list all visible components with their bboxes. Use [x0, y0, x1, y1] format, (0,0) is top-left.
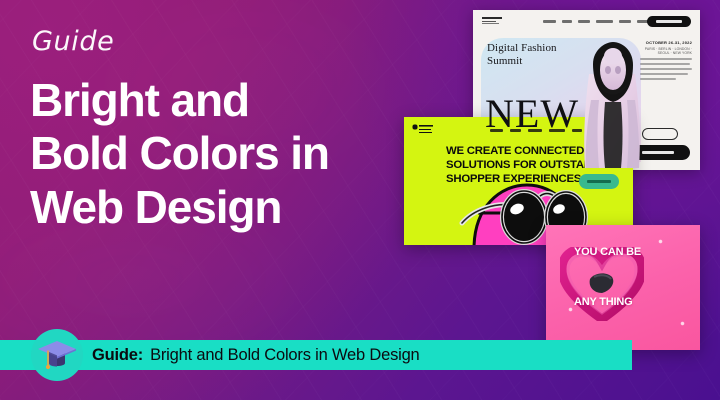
footer-label: Guide:	[92, 346, 143, 365]
mock1-nav-item[interactable]	[543, 20, 556, 23]
mock1-title-line1: Digital Fashion	[487, 42, 557, 54]
mock3-sparkle	[568, 307, 573, 312]
headline-line-3: Web Design	[30, 181, 410, 234]
mock1-nav-item[interactable]	[562, 20, 572, 23]
mock3-sparkle	[680, 321, 685, 326]
guide-banner: Digital Fashion Summit NEW	[0, 0, 720, 400]
mock3-sparkle	[658, 239, 663, 244]
mock1-register-button[interactable]	[647, 16, 691, 27]
page-title: Bright and Bold Colors in Web Design	[30, 74, 410, 234]
mock2-logo	[412, 124, 434, 134]
mock1-title: Digital Fashion Summit	[487, 42, 557, 68]
headline-line-2: Bold Colors in	[30, 127, 410, 180]
mock1-nav-item[interactable]	[578, 20, 590, 23]
footer-title: Bright and Bold Colors in Web Design	[150, 346, 419, 365]
mock3-line2: ANY THING	[574, 297, 633, 309]
mock1-nav[interactable]	[543, 20, 651, 23]
mock1-nav-item[interactable]	[619, 20, 631, 23]
mock1-title-line2: Summit	[487, 55, 522, 67]
mock1-logo	[482, 17, 502, 26]
headline-line-1: Bright and	[30, 74, 410, 127]
graduation-cap-icon	[37, 336, 77, 374]
footer-caption: Guide: Bright and Bold Colors in Web Des…	[92, 340, 420, 370]
mock1-hero-word: NEW	[485, 98, 579, 131]
mock3-line1: YOU CAN BE	[574, 247, 641, 259]
mock1-model-figure	[569, 40, 655, 168]
mock1-nav-item[interactable]	[596, 20, 613, 23]
kicker-label: Guide	[32, 28, 114, 55]
showcase-card-anything[interactable]: YOU CAN BE ANY THING	[546, 225, 700, 350]
